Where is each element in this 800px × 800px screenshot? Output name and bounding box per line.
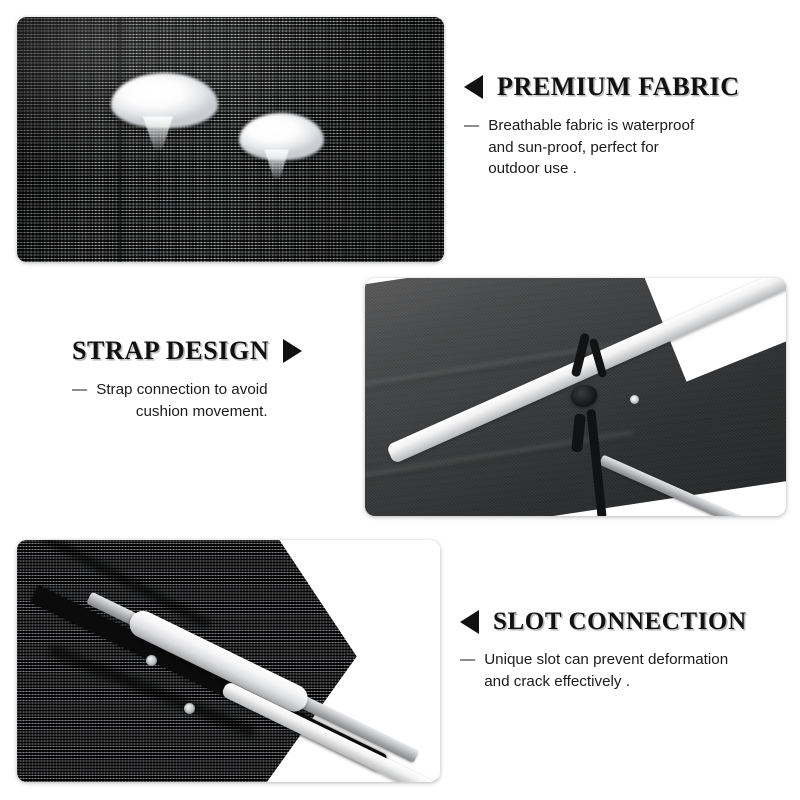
product-feature-infographic: PREMIUM FABRIC — Breathable fabric is wa… — [0, 0, 800, 800]
feature-strap-design: STRAP DESIGN — Strap connection to avoid… — [72, 336, 362, 422]
feature-description: Breathable fabric is waterproof and sun-… — [488, 115, 694, 180]
feature-heading-row: STRAP DESIGN — [72, 336, 362, 366]
strap-photo — [365, 278, 786, 516]
fabric-mesh-photo — [17, 17, 444, 262]
em-dash-bullet: — — [460, 649, 475, 692]
triangle-right-icon — [283, 339, 302, 363]
water-droplet-large — [111, 73, 218, 147]
feature-body-row: — Unique slot can prevent deformation an… — [460, 649, 790, 692]
feature-title: SLOT CONNECTION — [493, 608, 747, 636]
droplet-tail — [140, 116, 176, 150]
feature-heading-row: PREMIUM FABRIC — [464, 72, 784, 102]
em-dash-bullet: — — [72, 379, 87, 422]
feature-title: PREMIUM FABRIC — [497, 72, 740, 102]
triangle-left-icon — [460, 610, 479, 634]
feature-title: STRAP DESIGN — [72, 336, 269, 366]
feature-description: Strap connection to avoid cushion moveme… — [96, 379, 267, 422]
frame-rivet — [630, 395, 639, 404]
water-droplet-small — [239, 113, 324, 177]
em-dash-bullet: — — [464, 115, 479, 180]
slot-screw-upper — [146, 655, 157, 666]
feature-body-row: — Breathable fabric is waterproof and su… — [464, 115, 784, 180]
triangle-left-icon — [464, 75, 483, 99]
mesh-lighting-overlay — [17, 17, 444, 262]
feature-description: Unique slot can prevent deformation and … — [484, 649, 728, 692]
droplet-tail — [262, 149, 291, 178]
feature-body-row: — Strap connection to avoid cushion move… — [72, 379, 362, 422]
feature-slot-connection: SLOT CONNECTION — Unique slot can preven… — [460, 608, 790, 692]
slot-photo — [17, 540, 440, 782]
feature-premium-fabric: PREMIUM FABRIC — Breathable fabric is wa… — [464, 72, 784, 180]
feature-heading-row: SLOT CONNECTION — [460, 608, 790, 636]
